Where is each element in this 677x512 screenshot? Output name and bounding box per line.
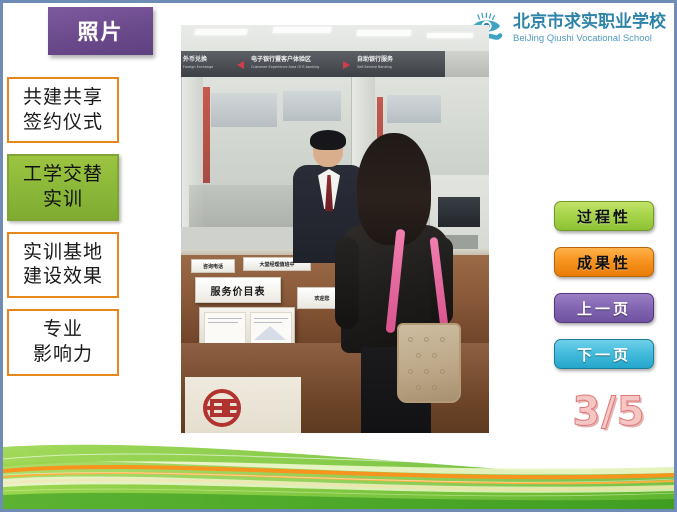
button-process-label: 过程性 [577, 206, 631, 227]
sidebar-item-3[interactable]: 专业 影响力 [7, 309, 119, 375]
sidebar-item-3-line2: 影响力 [11, 342, 115, 367]
button-next-page-label: 下一页 [577, 344, 631, 365]
photo-person-customer [339, 133, 457, 439]
counter-small-sign-1-text: 大堂经理值班中 [259, 261, 294, 268]
overhead-sign-2-cn: 自助银行服务 [357, 57, 393, 63]
button-previous-page[interactable]: 上一页 [554, 293, 654, 323]
overhead-sign-0-cn: 外币兑换 [183, 57, 207, 63]
sidebar-item-0-line1: 共建共享 [11, 85, 115, 110]
counter-small-sign-0: 咨询电话 [191, 259, 235, 273]
sidebar-item-0[interactable]: 共建共享 签约仪式 [7, 77, 119, 143]
sidebar-item-2-line1: 实训基地 [11, 240, 115, 265]
button-process[interactable]: 过程性 [554, 201, 654, 231]
overhead-sign-0-en: Foreign Exchange [183, 66, 213, 69]
sidebar-item-3-line1: 专业 [11, 317, 115, 342]
bottom-wave-decoration [3, 433, 674, 509]
page-indicator-text: 3/5 [572, 389, 645, 435]
photo-overhead-sign-bar: 外币兑换 Foreign Exchange 电子银行暨客户体验区 Custome… [181, 51, 489, 77]
logo-english-name: BeiJing Qiushi Vocational School [513, 33, 666, 44]
photo-handbag [397, 323, 461, 403]
button-previous-page-label: 上一页 [577, 298, 631, 319]
counter-price-list-text: 服务价目表 [211, 283, 266, 298]
sidebar-item-2-line2: 建设效果 [11, 264, 115, 289]
action-button-group: 过程性 成果性 上一页 下一页 [554, 201, 654, 385]
sidebar-item-2[interactable]: 实训基地 建设效果 [7, 232, 119, 298]
sidebar-item-1-line1: 工学交替 [11, 162, 115, 187]
school-logo: 北京市求实职业学校 BeiJing Qiushi Vocational Scho… [469, 9, 666, 49]
counter-small-sign-2-text: 欢迎您 [314, 295, 329, 302]
logo-chinese-name: 北京市求实职业学校 [513, 14, 666, 32]
slide-title-text: 照片 [78, 16, 124, 46]
overhead-sign-1-cn: 电子银行暨客户体验区 [251, 57, 311, 63]
overhead-sign-1-en: Customer Experience Area Of E-banking [251, 66, 319, 69]
presentation-slide: 照片 北京市求实职业学校 BeiJing Qiushi Vocational S… [0, 0, 677, 512]
counter-small-sign-0-text: 咨询电话 [203, 263, 223, 270]
counter-price-list-sign: 服务价目表 [195, 277, 281, 303]
slide-title-box: 照片 [48, 7, 153, 55]
icbc-bank-logo-icon [203, 389, 241, 427]
sidebar-item-1[interactable]: 工学交替 实训 [7, 154, 119, 220]
sidebar-item-0-line2: 签约仪式 [11, 110, 115, 135]
bank-branch-interior-photo: 外币兑换 Foreign Exchange 电子银行暨客户体验区 Custome… [181, 25, 489, 439]
page-indicator: 3/5 [554, 389, 664, 435]
button-outcome-label: 成果性 [577, 252, 631, 273]
overhead-sign-2-en: Self-Service Banking [357, 66, 392, 69]
sidebar-item-1-line2: 实训 [11, 187, 115, 212]
arrow-left-icon [237, 61, 244, 69]
sidebar-nav: 共建共享 签约仪式 工学交替 实训 实训基地 建设效果 专业 影响力 [7, 77, 123, 387]
button-next-page[interactable]: 下一页 [554, 339, 654, 369]
arrow-right-icon [343, 61, 350, 69]
button-outcome[interactable]: 成果性 [554, 247, 654, 277]
photo-icbc-logo-panel [185, 377, 301, 439]
